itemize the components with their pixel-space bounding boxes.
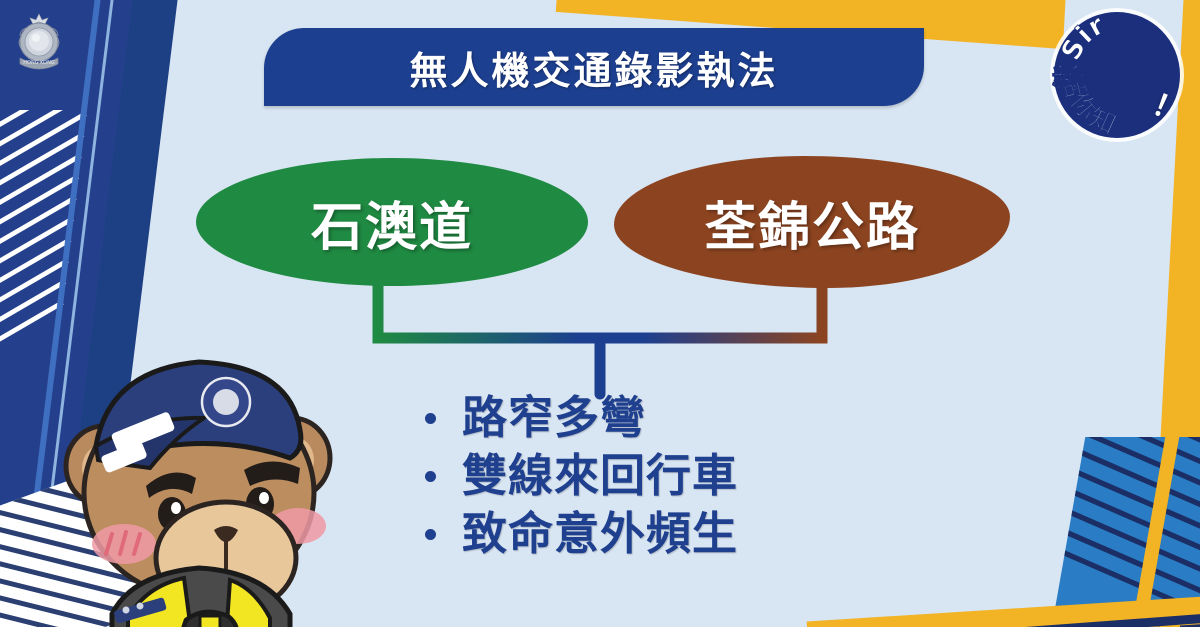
police-bear-mascot-icon (54, 318, 344, 627)
page-title: 無人機交通錄影執法 (409, 40, 778, 95)
list-item-label: 雙線來回行車 (462, 450, 738, 502)
bullet-dot-icon (425, 471, 436, 482)
poster-canvas: HONG KONG 無人機交通錄影執法 熊Sir 話你知 ！ 石澳道 荃錦公 (0, 0, 1200, 627)
list-item: 雙線來回行車 (425, 450, 738, 502)
list-item: 路窄多彎 (425, 392, 738, 444)
bullet-dot-icon (425, 529, 436, 540)
bullet-dot-icon (425, 413, 436, 424)
bullet-list: 路窄多彎雙線來回行車致命意外頻生 (425, 392, 738, 567)
svg-text:HONG KONG: HONG KONG (23, 60, 55, 66)
svg-text:話你知: 話你知 (1055, 68, 1122, 141)
list-item: 致命意外頻生 (425, 508, 738, 560)
status-badge: 熊Sir 話你知 ！ (1046, 4, 1188, 146)
road-pill-route-twisk[interactable]: 荃錦公路 (614, 156, 1010, 288)
road-label-route-twisk: 荃錦公路 (704, 185, 920, 260)
road-label-shek-o-road: 石澳道 (311, 185, 473, 260)
police-crest-icon: HONG KONG (10, 12, 68, 78)
connector-bracket (330, 272, 870, 402)
list-item-label: 路窄多彎 (462, 392, 646, 444)
title-banner: 無人機交通錄影執法 (264, 28, 924, 106)
road-pill-shek-o-road[interactable]: 石澳道 (196, 158, 588, 286)
list-item-label: 致命意外頻生 (462, 508, 738, 560)
